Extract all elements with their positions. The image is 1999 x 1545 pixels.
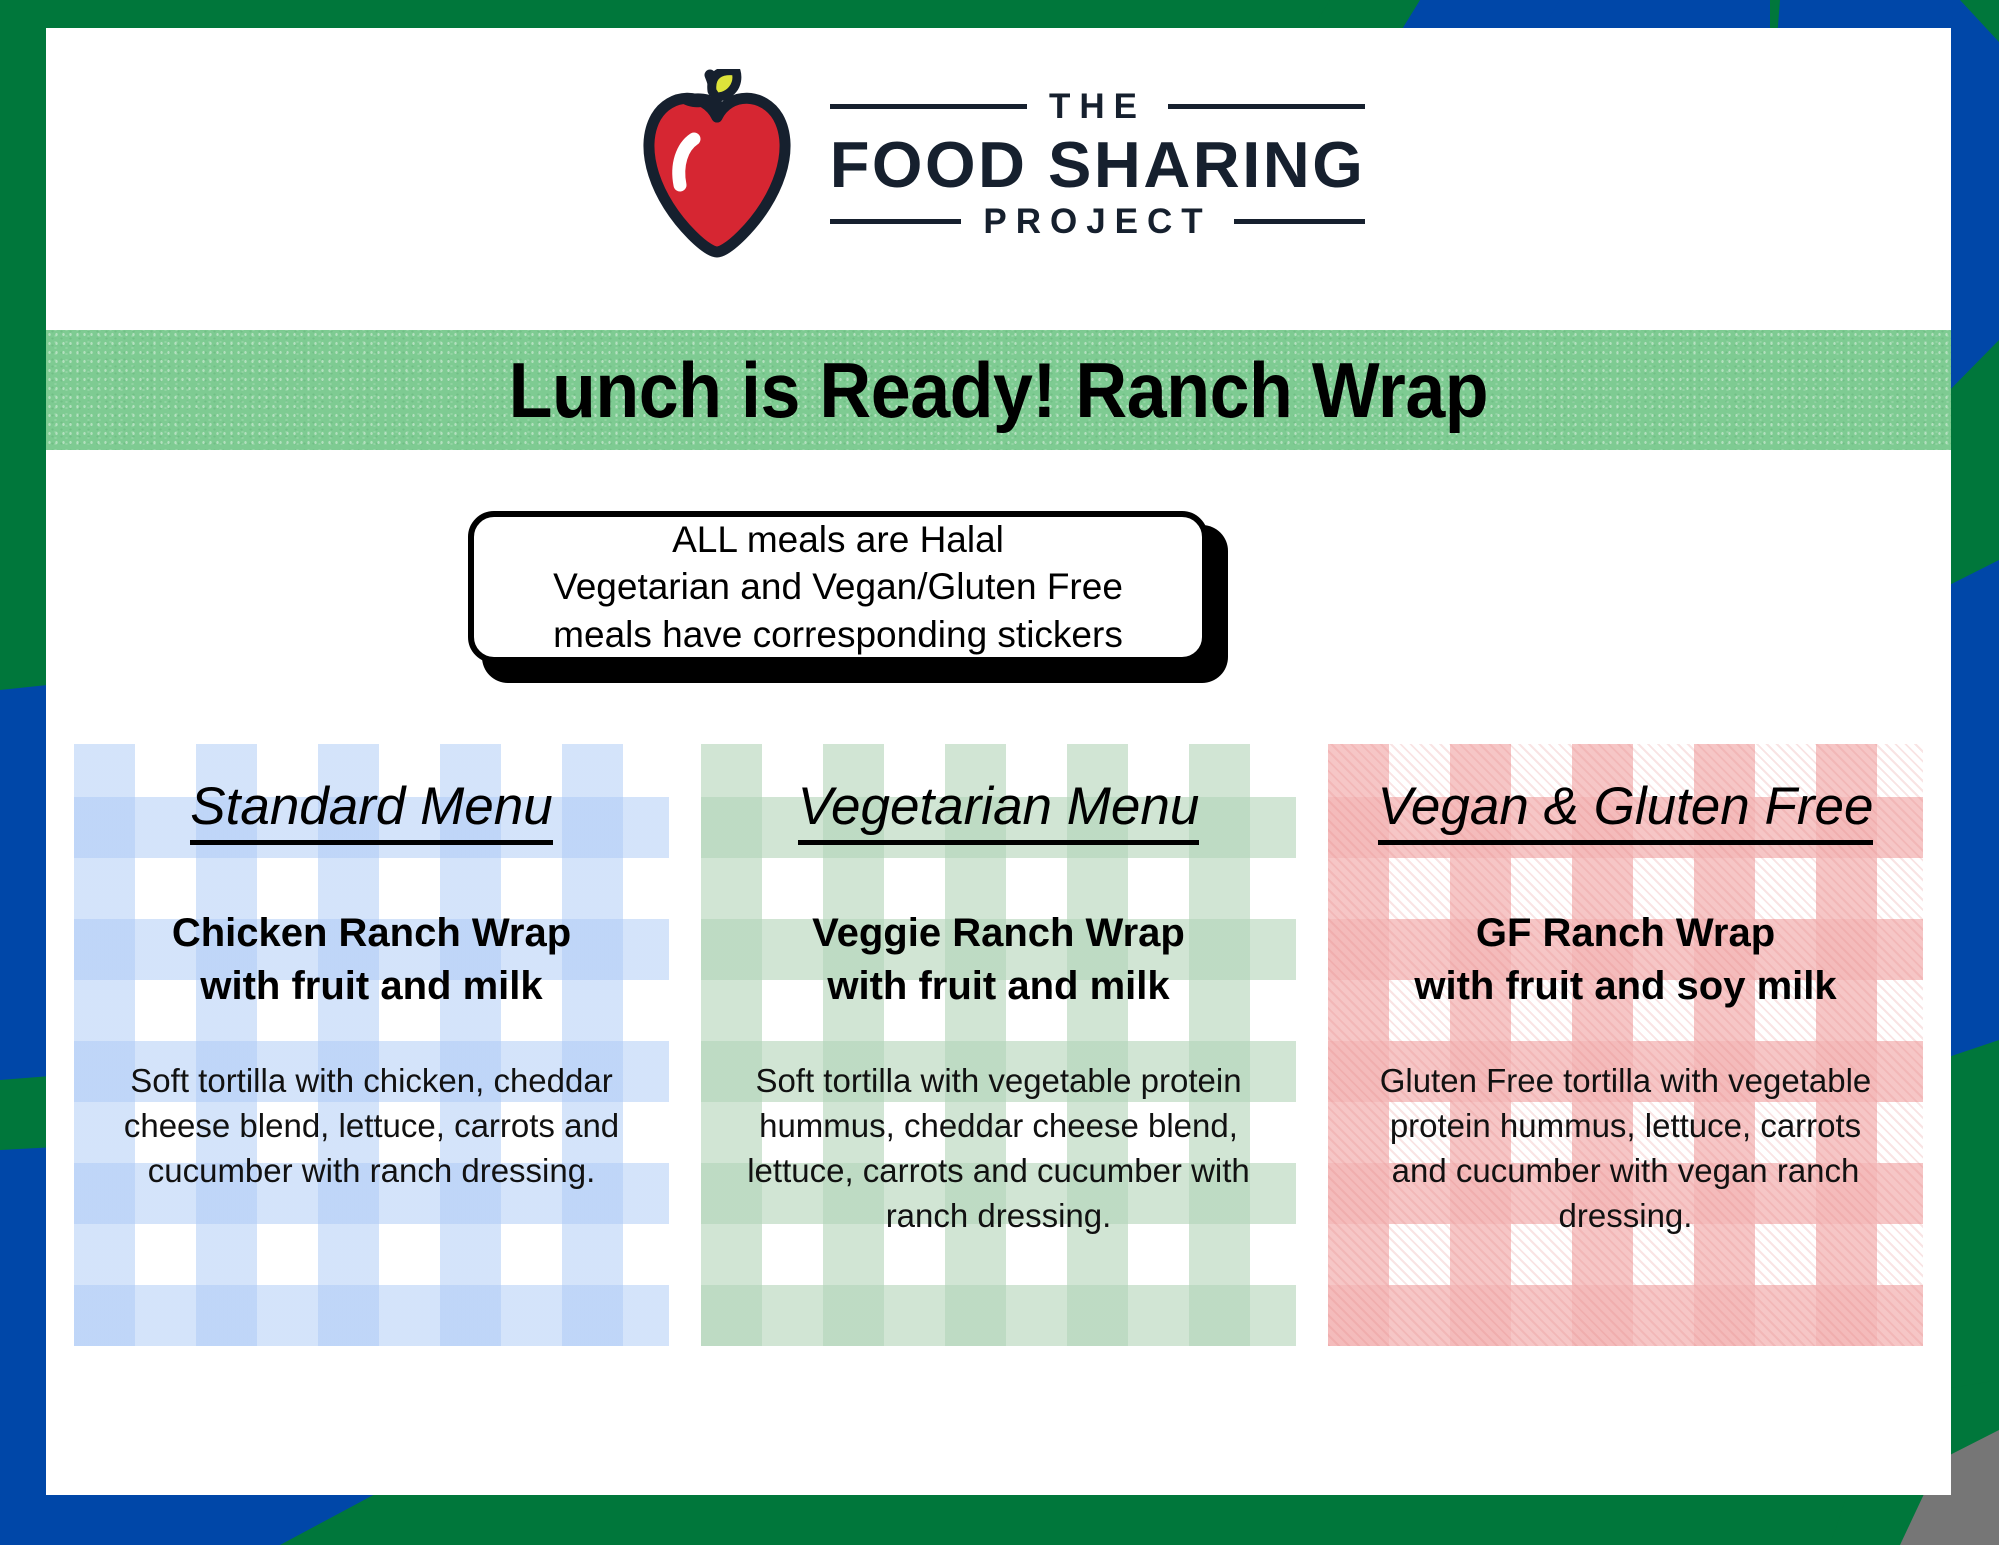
menu-columns: Standard Menu Chicken Ranch Wrap with fr… — [46, 744, 1951, 1354]
note-line-3: meals have corresponding stickers — [553, 611, 1123, 658]
logo-wordmark: THE FOOD SHARING PROJECT — [830, 89, 1366, 239]
dietary-note: ALL meals are Halal Vegetarian and Vegan… — [468, 511, 1228, 683]
logo-rule-left-bottom — [830, 219, 962, 224]
menu-item-vegetarian-line2: with fruit and milk — [723, 960, 1274, 1013]
logo-bottom-row: PROJECT — [830, 204, 1366, 239]
menu-desc-vegan-gf: Gluten Free tortilla with vegetable prot… — [1350, 1058, 1901, 1239]
menu-column-standard: Standard Menu Chicken Ranch Wrap with fr… — [74, 744, 669, 1346]
note-line-1: ALL meals are Halal — [672, 516, 1004, 563]
menu-item-vegetarian-line1: Veggie Ranch Wrap — [812, 911, 1185, 955]
logo-rule-right-bottom — [1234, 219, 1366, 224]
menu-desc-standard: Soft tortilla with chicken, cheddar chee… — [96, 1058, 647, 1194]
menu-item-vegan-gf-line1: GF Ranch Wrap — [1476, 911, 1775, 955]
brand-logo: THE FOOD SHARING PROJECT — [46, 28, 1951, 300]
logo-rule-left — [830, 104, 1027, 109]
menu-heading-vegan-gf: Vegan & Gluten Free — [1378, 778, 1874, 845]
apple-heart-icon — [632, 69, 802, 259]
menu-item-vegetarian: Veggie Ranch Wrap with fruit and milk — [723, 907, 1274, 1013]
logo-rule-right — [1168, 104, 1365, 109]
menu-heading-standard: Standard Menu — [190, 778, 552, 845]
menu-desc-vegetarian: Soft tortilla with vegetable protein hum… — [723, 1058, 1274, 1239]
note-line-2: Vegetarian and Vegan/Gluten Free — [553, 563, 1123, 610]
logo-line-project: PROJECT — [983, 204, 1211, 239]
menu-item-standard-line2: with fruit and milk — [96, 960, 647, 1013]
banner: Lunch is Ready! Ranch Wrap — [46, 330, 1951, 450]
poster-card: THE FOOD SHARING PROJECT Lunch is Ready!… — [46, 28, 1951, 1495]
page-title: Lunch is Ready! Ranch Wrap — [509, 345, 1489, 436]
menu-item-vegan-gf-line2: with fruit and soy milk — [1350, 960, 1901, 1013]
logo-line-main: FOOD SHARING — [830, 130, 1366, 200]
menu-heading-vegetarian: Vegetarian Menu — [798, 778, 1200, 845]
note-box: ALL meals are Halal Vegetarian and Vegan… — [468, 511, 1208, 663]
menu-column-vegetarian: Vegetarian Menu Veggie Ranch Wrap with f… — [701, 744, 1296, 1346]
menu-item-standard-line1: Chicken Ranch Wrap — [172, 911, 571, 955]
logo-top-row: THE — [830, 89, 1366, 124]
menu-item-standard: Chicken Ranch Wrap with fruit and milk — [96, 907, 647, 1013]
logo-line-the: THE — [1049, 89, 1146, 124]
menu-item-vegan-gf: GF Ranch Wrap with fruit and soy milk — [1350, 907, 1901, 1013]
menu-column-vegan-gf: Vegan & Gluten Free GF Ranch Wrap with f… — [1328, 744, 1923, 1346]
